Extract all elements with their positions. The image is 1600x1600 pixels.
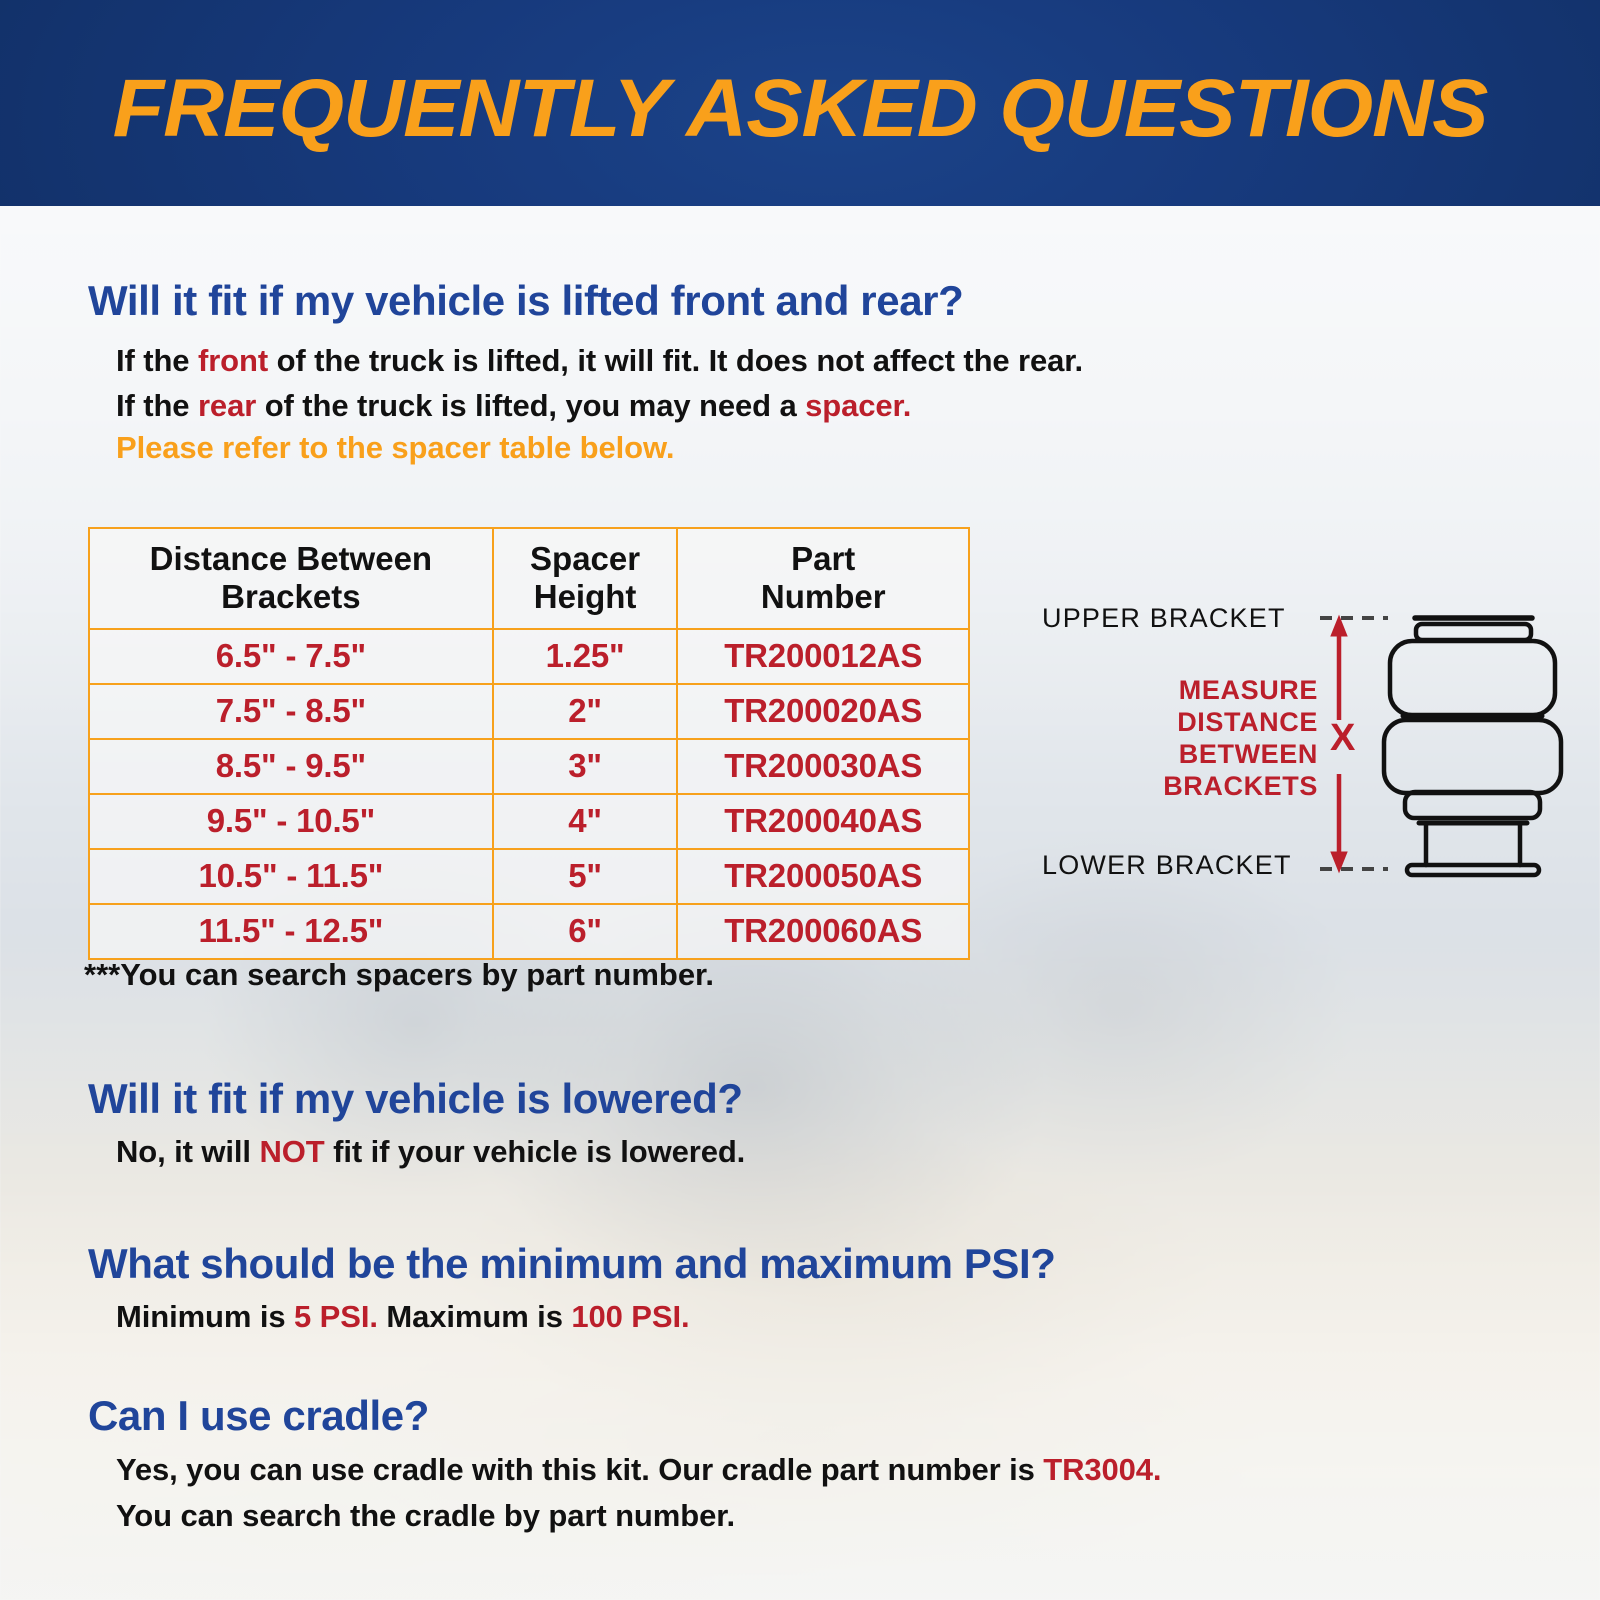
air-spring-illustration <box>1020 592 1570 902</box>
faq-question-3-heading: What should be the minimum and maximum P… <box>88 1240 1056 1288</box>
faq-answer-4-line-2: You can search the cradle by part number… <box>116 1498 735 1534</box>
column-header-distance: Distance Between Brackets <box>89 528 493 629</box>
faq-question-2-heading: Will it fit if my vehicle is lowered? <box>88 1075 743 1123</box>
column-header-part-number-line-2: Number <box>761 578 886 615</box>
bracket-measurement-diagram: UPPER BRACKET LOWER BRACKET MEASURE DIST… <box>1020 592 1570 902</box>
cell-part-number: TR200040AS <box>677 794 969 849</box>
text-run: spacer. <box>805 388 911 423</box>
table-row: 8.5" - 9.5"3"TR200030AS <box>89 739 969 794</box>
cell-part-number: TR200050AS <box>677 849 969 904</box>
cell-distance: 9.5" - 10.5" <box>89 794 493 849</box>
column-header-spacer-height-line-1: Spacer <box>530 540 640 577</box>
spacer-table-body: 6.5" - 7.5"1.25"TR200012AS7.5" - 8.5"2"T… <box>89 629 969 959</box>
column-header-distance-line-2: Brackets <box>221 578 360 615</box>
faq-question-4-heading: Can I use cradle? <box>88 1392 429 1440</box>
text-run: No, it will <box>116 1134 259 1169</box>
text-run: fit if your vehicle is lowered. <box>325 1134 746 1169</box>
column-header-part-number: Part Number <box>677 528 969 629</box>
cell-spacer-height: 3" <box>493 739 678 794</box>
text-run: of the truck is lifted, it will fit. It … <box>268 343 1083 378</box>
faq-answer-1-line-1: If the front of the truck is lifted, it … <box>116 343 1083 379</box>
text-run: If the <box>116 388 198 423</box>
text-run: Maximum is <box>378 1299 571 1334</box>
table-row: 10.5" - 11.5"5"TR200050AS <box>89 849 969 904</box>
column-header-distance-line-1: Distance Between <box>150 540 432 577</box>
text-run: rear <box>198 388 256 423</box>
text-run: Minimum is <box>116 1299 294 1334</box>
faq-infographic-page: FREQUENTLY ASKED QUESTIONS Will it fit i… <box>0 0 1600 1600</box>
cell-spacer-height: 6" <box>493 904 678 959</box>
table-row: 7.5" - 8.5"2"TR200020AS <box>89 684 969 739</box>
cell-part-number: TR200060AS <box>677 904 969 959</box>
cell-spacer-height: 4" <box>493 794 678 849</box>
spacer-table: Distance Between Brackets Spacer Height … <box>88 527 970 960</box>
air-spring-body <box>1384 618 1561 875</box>
spacer-table-header-row: Distance Between Brackets Spacer Height … <box>89 528 969 629</box>
faq-answer-1-line-2: If the rear of the truck is lifted, you … <box>116 388 911 424</box>
content-area: Will it fit if my vehicle is lifted fron… <box>0 0 1600 1600</box>
spacer-table-note: ***You can search spacers by part number… <box>84 957 714 993</box>
text-run: Please refer to the spacer table below. <box>116 430 674 465</box>
cell-distance: 6.5" - 7.5" <box>89 629 493 684</box>
cell-spacer-height: 1.25" <box>493 629 678 684</box>
text-run: 5 PSI. <box>294 1299 378 1334</box>
text-run: front <box>198 343 268 378</box>
cell-distance: 11.5" - 12.5" <box>89 904 493 959</box>
cell-spacer-height: 2" <box>493 684 678 739</box>
faq-answer-3-line-1: Minimum is 5 PSI. Maximum is 100 PSI. <box>116 1299 689 1335</box>
faq-question-1-heading: Will it fit if my vehicle is lifted fron… <box>88 277 963 325</box>
cell-distance: 7.5" - 8.5" <box>89 684 493 739</box>
text-run: TR3004. <box>1043 1452 1161 1487</box>
table-row: 11.5" - 12.5"6"TR200060AS <box>89 904 969 959</box>
cell-part-number: TR200020AS <box>677 684 969 739</box>
cell-distance: 8.5" - 9.5" <box>89 739 493 794</box>
faq-answer-1-line-3: Please refer to the spacer table below. <box>116 430 674 466</box>
faq-answer-4-line-1: Yes, you can use cradle with this kit. O… <box>116 1452 1161 1488</box>
text-run: of the truck is lifted, you may need a <box>256 388 805 423</box>
text-run: 100 PSI. <box>571 1299 689 1334</box>
cell-spacer-height: 5" <box>493 849 678 904</box>
cell-part-number: TR200030AS <box>677 739 969 794</box>
faq-answer-2-line-1: No, it will NOT fit if your vehicle is l… <box>116 1134 745 1170</box>
measurement-arrow <box>1331 616 1347 872</box>
text-run: Yes, you can use cradle with this kit. O… <box>116 1452 1043 1487</box>
text-run: NOT <box>259 1134 324 1169</box>
text-run: If the <box>116 343 198 378</box>
table-row: 6.5" - 7.5"1.25"TR200012AS <box>89 629 969 684</box>
text-run: You can search the cradle by part number… <box>116 1498 735 1533</box>
column-header-part-number-line-1: Part <box>791 540 855 577</box>
cell-distance: 10.5" - 11.5" <box>89 849 493 904</box>
table-row: 9.5" - 10.5"4"TR200040AS <box>89 794 969 849</box>
column-header-spacer-height: Spacer Height <box>493 528 678 629</box>
column-header-spacer-height-line-2: Height <box>534 578 637 615</box>
cell-part-number: TR200012AS <box>677 629 969 684</box>
spacer-table-head: Distance Between Brackets Spacer Height … <box>89 528 969 629</box>
